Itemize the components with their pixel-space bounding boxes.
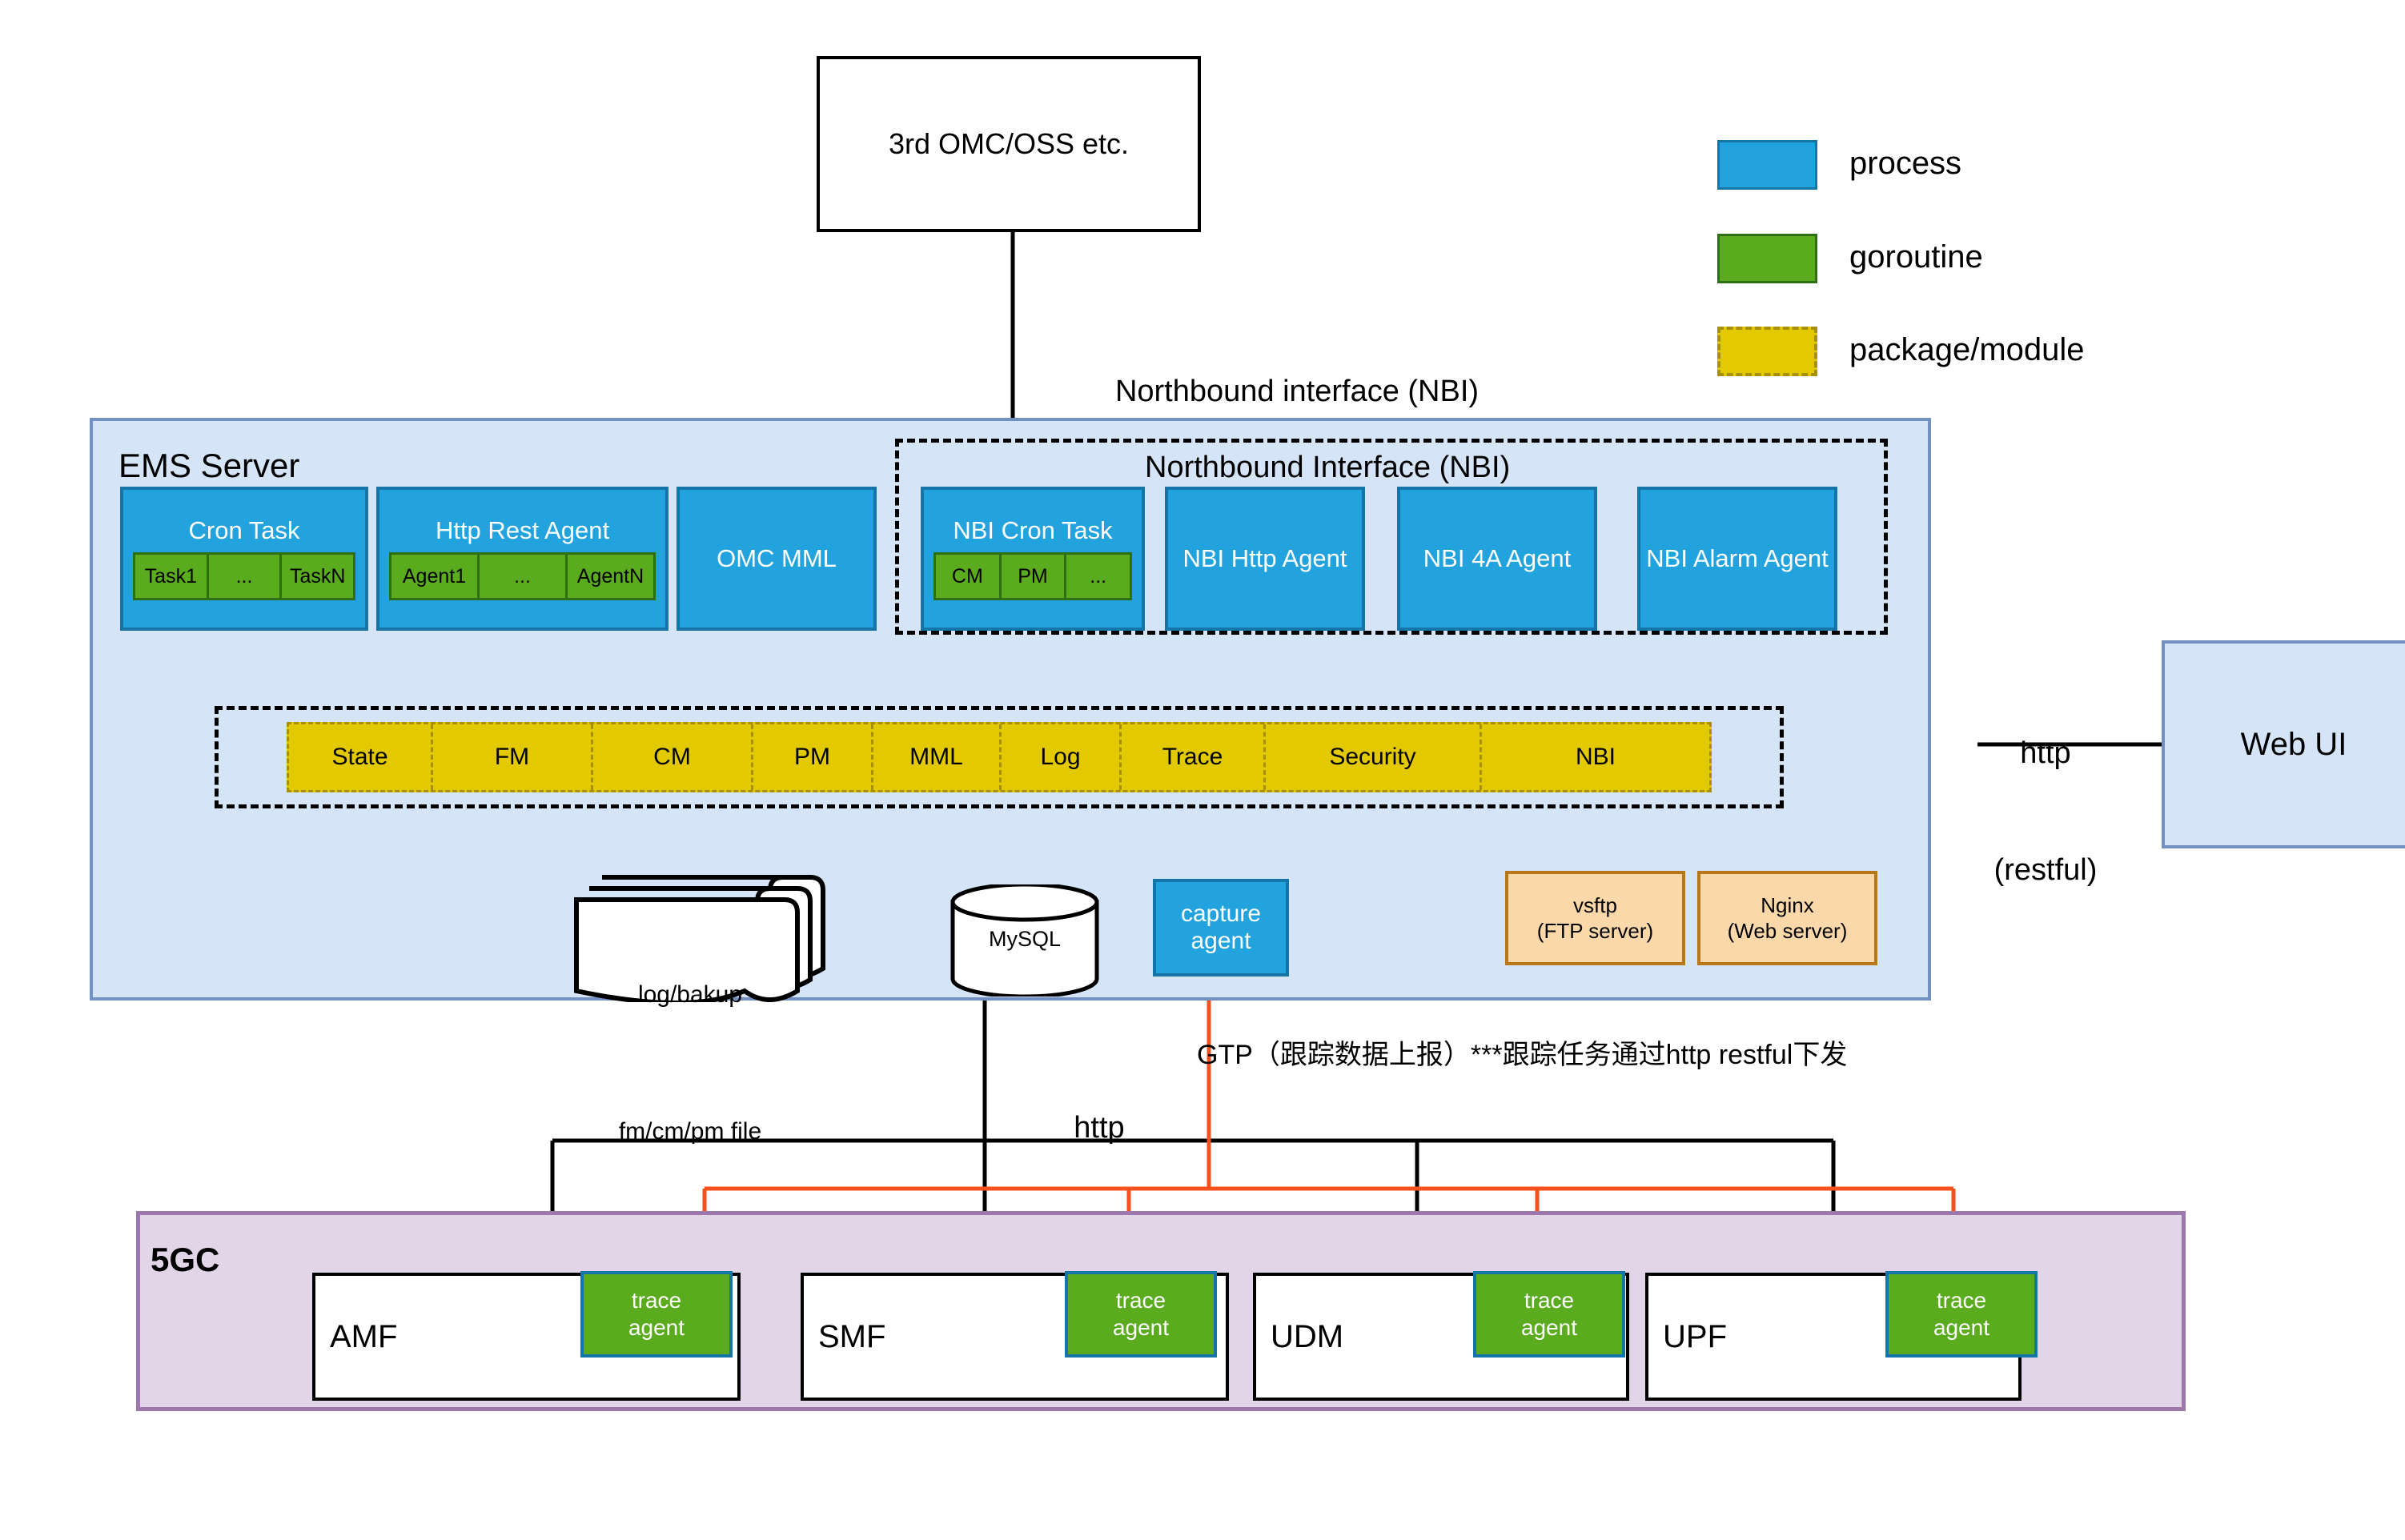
process-nbi-cron-task-title: NBI Cron Task xyxy=(953,517,1112,545)
process-cron-task-title: Cron Task xyxy=(189,517,300,545)
gc-node-upf-label: UPF xyxy=(1663,1319,1727,1355)
trace-agent-upf[interactable]: trace agent xyxy=(1885,1271,2038,1358)
nbi-link-label-line1: Northbound interface (NBI) xyxy=(1041,372,1553,411)
goroutine-taskn[interactable]: TaskN xyxy=(282,552,355,600)
module-trace[interactable]: Trace xyxy=(1122,724,1266,790)
process-nbi-alarm-agent-title: NBI Alarm Agent xyxy=(1646,545,1828,573)
gc-node-udm-label: UDM xyxy=(1271,1319,1343,1355)
webui-link-line1: http xyxy=(1945,734,2146,773)
goroutine-nbi-ellipsis[interactable]: ... xyxy=(1066,552,1132,600)
gc-title: 5GC xyxy=(151,1241,219,1279)
goroutine-cm[interactable]: CM xyxy=(933,552,1002,600)
diagram-canvas: 3rd OMC/OSS etc. Northbound interface (N… xyxy=(0,0,2405,1540)
goroutine-agentn[interactable]: AgentN xyxy=(568,552,656,600)
trace-agent-amf-line2: agent xyxy=(628,1314,685,1341)
capture-agent-line1: capture xyxy=(1181,900,1261,928)
trace-agent-upf-line1: trace xyxy=(1937,1287,1986,1314)
process-cron-task[interactable]: Cron Task Task1 ... TaskN xyxy=(120,487,368,631)
goroutine-pm[interactable]: PM xyxy=(1002,552,1067,600)
goroutine-task1[interactable]: Task1 xyxy=(133,552,209,600)
trace-agent-udm-line2: agent xyxy=(1521,1314,1577,1341)
trace-agent-udm[interactable]: trace agent xyxy=(1473,1271,1625,1358)
module-log[interactable]: Log xyxy=(1002,724,1122,790)
trace-agent-smf[interactable]: trace agent xyxy=(1065,1271,1217,1358)
process-omc-mml-title: OMC MML xyxy=(717,545,837,573)
external-omc-oss-box[interactable]: 3rd OMC/OSS etc. xyxy=(817,56,1201,232)
legend-swatch-goroutine xyxy=(1717,234,1817,283)
process-omc-mml[interactable]: OMC MML xyxy=(677,487,877,631)
process-cron-task-lanes: Task1 ... TaskN xyxy=(133,552,355,600)
trace-agent-smf-line2: agent xyxy=(1113,1314,1169,1341)
gtp-note-label: GTP（跟踪数据上报）***跟踪任务通过http restful下发 xyxy=(1197,1033,1847,1072)
webui-link-line2: (restful) xyxy=(1945,851,2146,890)
process-nbi-http-agent-title: NBI Http Agent xyxy=(1182,545,1347,573)
process-nbi-cron-task-lanes: CM PM ... xyxy=(933,552,1132,600)
module-nbi[interactable]: NBI xyxy=(1482,724,1709,790)
process-capture-agent[interactable]: capture agent xyxy=(1153,879,1289,977)
process-nbi-alarm-agent[interactable]: NBI Alarm Agent xyxy=(1637,487,1837,631)
legend-label-package-module: package/module xyxy=(1849,332,2085,368)
legend-swatch-package-module xyxy=(1717,327,1817,376)
process-nbi-4a-agent[interactable]: NBI 4A Agent xyxy=(1397,487,1597,631)
server-vsftp-line2: (FTP server) xyxy=(1537,918,1653,944)
webui-box[interactable]: Web UI xyxy=(2162,640,2405,848)
external-omc-oss-label: 3rd OMC/OSS etc. xyxy=(889,127,1129,161)
module-bar: State FM CM PM MML Log Trace Security NB… xyxy=(287,722,1712,792)
process-nbi-cron-task[interactable]: NBI Cron Task CM PM ... xyxy=(921,487,1145,631)
process-nbi-http-agent[interactable]: NBI Http Agent xyxy=(1165,487,1365,631)
module-cm[interactable]: CM xyxy=(593,724,753,790)
nbi-group-title: Northbound Interface (NBI) xyxy=(1145,448,1510,487)
legend-label-goroutine: goroutine xyxy=(1849,239,1983,275)
server-nginx-line2: (Web server) xyxy=(1728,918,1848,944)
trace-agent-udm-line1: trace xyxy=(1524,1287,1574,1314)
process-http-rest-agent-lanes: Agent1 ... AgentN xyxy=(389,552,656,600)
server-vsftp[interactable]: vsftp (FTP server) xyxy=(1505,871,1685,965)
server-nginx[interactable]: Nginx (Web server) xyxy=(1697,871,1877,965)
trace-agent-upf-line2: agent xyxy=(1933,1314,1989,1341)
ems-server-title: EMS Server xyxy=(118,447,299,485)
file-stack-line1: log/bakup xyxy=(570,972,810,1017)
gc-node-amf-label: AMF xyxy=(330,1319,397,1355)
process-http-rest-agent[interactable]: Http Rest Agent Agent1 ... AgentN xyxy=(376,487,669,631)
webui-link-label: http (restful) xyxy=(1945,656,2146,968)
legend-swatch-process xyxy=(1717,140,1817,190)
process-http-rest-agent-title: Http Rest Agent xyxy=(436,517,609,545)
module-fm[interactable]: FM xyxy=(433,724,593,790)
capture-agent-line2: agent xyxy=(1190,928,1251,955)
file-stack-line2: fm/cm/pm file xyxy=(570,1109,810,1154)
webui-label: Web UI xyxy=(2241,727,2347,763)
goroutine-agent-ellipsis[interactable]: ... xyxy=(480,552,568,600)
legend-label-process: process xyxy=(1849,146,1961,182)
goroutine-task-ellipsis[interactable]: ... xyxy=(209,552,283,600)
process-nbi-4a-agent-title: NBI 4A Agent xyxy=(1423,545,1571,573)
trace-agent-amf-line1: trace xyxy=(632,1287,681,1314)
module-state[interactable]: State xyxy=(289,724,433,790)
file-stack-label: log/bakup fm/cm/pm file xyxy=(570,880,810,1245)
trace-agent-smf-line1: trace xyxy=(1116,1287,1166,1314)
module-pm[interactable]: PM xyxy=(753,724,873,790)
gc-http-line1: http xyxy=(1007,1109,1191,1148)
server-vsftp-line1: vsftp xyxy=(1573,892,1617,919)
module-mml[interactable]: MML xyxy=(873,724,1002,790)
server-nginx-line1: Nginx xyxy=(1761,892,1813,919)
goroutine-agent1[interactable]: Agent1 xyxy=(389,552,480,600)
gc-node-smf-label: SMF xyxy=(818,1319,885,1355)
module-security[interactable]: Security xyxy=(1266,724,1482,790)
mysql-database-label: MySQL xyxy=(949,927,1101,952)
trace-agent-amf[interactable]: trace agent xyxy=(580,1271,733,1358)
